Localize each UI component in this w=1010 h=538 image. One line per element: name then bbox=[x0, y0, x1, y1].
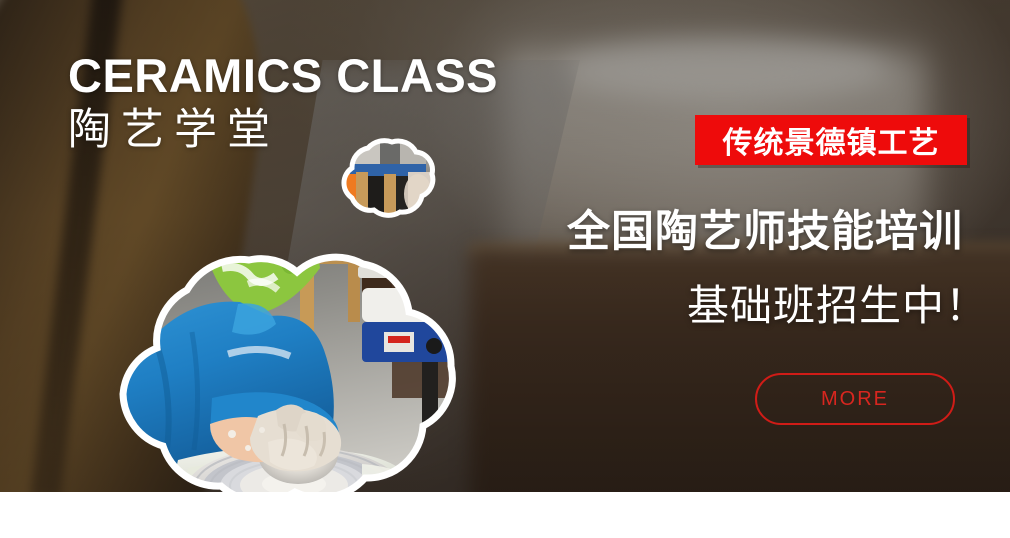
title-english: CERAMICS CLASS bbox=[68, 52, 498, 100]
pottery-tools-photo bbox=[318, 134, 442, 226]
more-button-label: MORE bbox=[821, 388, 889, 411]
headline-secondary: 基础班招生中！ bbox=[687, 272, 988, 333]
footer-strip bbox=[0, 492, 1010, 538]
badge-label: 传统景德镇工艺 bbox=[723, 118, 940, 162]
child-at-pottery-wheel-photo bbox=[62, 228, 532, 528]
ceramics-class-banner: CERAMICS CLASS 陶艺学堂 bbox=[0, 0, 1010, 538]
headline-primary: 全国陶艺师技能培训 bbox=[567, 197, 963, 259]
status-badge: 传统景德镇工艺 bbox=[695, 115, 967, 165]
more-button[interactable]: MORE bbox=[755, 373, 955, 425]
